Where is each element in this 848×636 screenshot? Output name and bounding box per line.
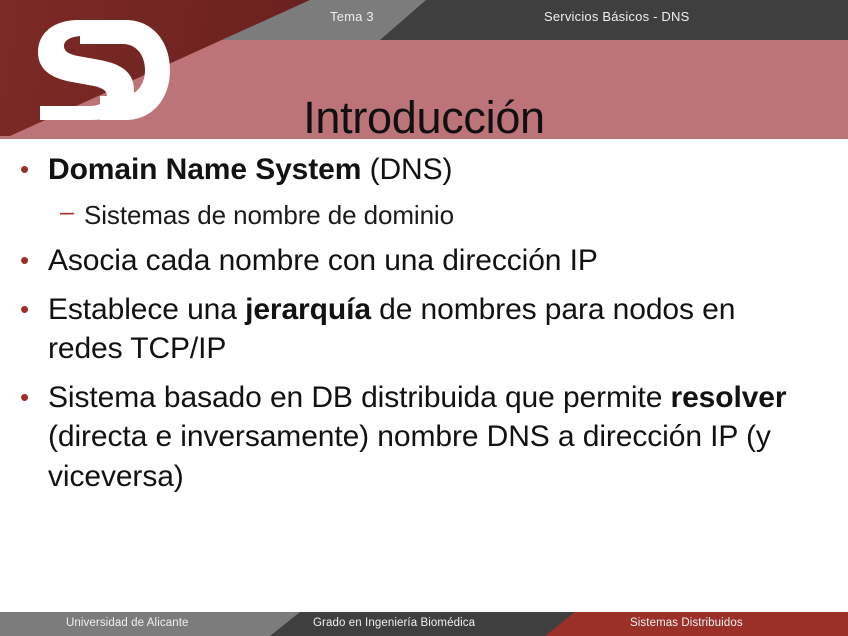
bullet-item: • Sistema basado en DB distribuida que p… — [18, 378, 824, 497]
bullet-dot-icon: • — [20, 378, 48, 410]
bullet-dot-icon: • — [20, 241, 48, 273]
slide-body: • Domain Name System (DNS) – Sistemas de… — [0, 150, 848, 602]
section-label: Servicios Básicos - DNS — [544, 9, 689, 24]
bullet-dot-icon: • — [20, 150, 48, 182]
sub-bullet-item: – Sistemas de nombre de dominio — [18, 199, 824, 232]
footer-university-label: Universidad de Alicante — [66, 617, 188, 629]
bullet-item: • Asocia cada nombre con una dirección I… — [18, 241, 824, 281]
bullet-dash-icon: – — [60, 199, 84, 225]
sd-logo-icon — [22, 14, 182, 126]
slide-header: Tema 3 Servicios Básicos - DNS Introducc… — [0, 0, 848, 136]
bullet-text: Asocia cada nombre con una dirección IP — [48, 241, 808, 281]
footer-degree-label: Grado en Ingeniería Biomédica — [313, 617, 475, 629]
header-underline — [0, 136, 848, 139]
sub-bullet-text: Sistemas de nombre de dominio — [84, 199, 824, 232]
bullet-text: Domain Name System (DNS) — [48, 150, 808, 190]
footer-course-label: Sistemas Distribuidos — [630, 617, 743, 629]
bullet-dot-icon: • — [20, 290, 48, 322]
bullet-text: Establece una jerarquía de nombres para … — [48, 290, 808, 369]
slide-footer: Universidad de Alicante Grado en Ingenie… — [0, 612, 848, 636]
presentation-slide: Tema 3 Servicios Básicos - DNS Introducc… — [0, 0, 848, 636]
topic-label: Tema 3 — [330, 9, 374, 24]
bullet-text: Sistema basado en DB distribuida que per… — [48, 378, 808, 497]
bullet-item: • Domain Name System (DNS) — [18, 150, 824, 190]
bullet-item: • Establece una jerarquía de nombres par… — [18, 290, 824, 369]
